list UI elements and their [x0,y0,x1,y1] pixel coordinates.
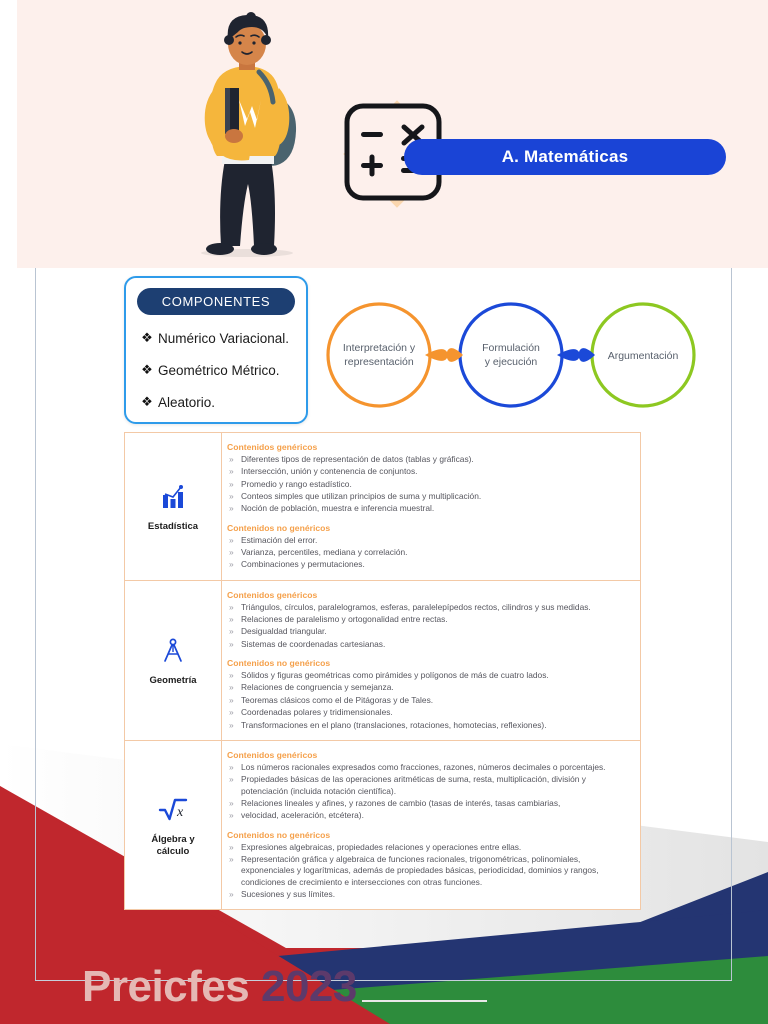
footer-title: Preicfes 2023 [82,962,357,1012]
section-title-generic: Contenidos genéricos [227,750,630,760]
list-item: ❖ Numérico Variacional. [136,322,301,354]
row-name: Estadística [148,521,198,533]
row-icon-cell: Estadística [125,433,222,580]
non-generic-list: Sólidos y figuras geométricas como pirám… [227,670,630,731]
table-row: x Álgebra y cálculo Contenidos genéricos… [125,741,640,909]
list-item: Desigualdad triangular. [227,626,630,637]
row-name: Álgebra y cálculo [151,834,194,858]
componentes-list: ❖ Numérico Variacional. ❖ Geométrico Mét… [136,322,301,418]
list-item: Sólidos y figuras geométricas como pirám… [227,670,630,681]
row-name: Geometría [150,675,197,687]
list-item: Sistemas de coordenadas cartesianas. [227,639,630,650]
list-item: Relaciones de congruencia y semejanza. [227,682,630,693]
list-item: Transformaciones en el plano (translacio… [227,720,630,731]
componente-label: Numérico Variacional. [158,331,289,346]
list-item: Conteos simples que utilizan principios … [227,491,630,502]
section-title-non-generic: Contenidos no genéricos [227,830,630,840]
list-item: Relaciones lineales y afines, y razones … [227,798,630,809]
diamond-bullet-icon: ❖ [136,362,158,378]
componentes-heading-pill: COMPONENTES [137,288,295,315]
non-generic-list: Estimación del error. Varianza, percenti… [227,535,630,571]
process-label-1-line1: Interpretación y [343,342,416,354]
list-item: Sucesiones y sus límites. [227,889,630,900]
list-item: ❖ Aleatorio. [136,386,301,418]
row-body: Contenidos genéricos Triángulos, círculo… [222,581,640,740]
list-item: Estimación del error. [227,535,630,546]
list-item: Propiedades básicas de las operaciones a… [227,774,630,797]
process-label-2-line1: Formulación [482,342,540,354]
frame-line-left [35,268,36,981]
diamond-bullet-icon: ❖ [136,394,158,410]
process-label-1-line2: representación [344,356,414,368]
square-root-icon: x [158,793,188,827]
footer-rule [362,1000,487,1002]
process-circle-2 [460,304,562,406]
row-icon-cell: x Álgebra y cálculo [125,741,222,909]
bar-chart-icon [160,480,186,514]
section-title-pill: A. Matemáticas [404,139,726,175]
row-body: Contenidos genéricos Los números raciona… [222,741,640,909]
non-generic-list: Expresiones algebraicas, propiedades rel… [227,842,630,901]
list-item: Promedio y rango estadístico. [227,479,630,490]
componentes-card: COMPONENTES ❖ Numérico Variacional. ❖ Ge… [124,276,308,424]
svg-text:x: x [176,805,184,820]
header-banner [17,0,768,268]
process-circle-1 [328,304,430,406]
list-item: ❖ Geométrico Métrico. [136,354,301,386]
list-item: Coordenadas polares y tridimensionales. [227,707,630,718]
list-item: Triángulos, círculos, paralelogramos, es… [227,602,630,613]
table-row: Estadística Contenidos genéricos Diferen… [125,433,640,581]
list-item: Noción de población, muestra e inferenci… [227,503,630,514]
diamond-bullet-icon: ❖ [136,330,158,346]
row-name-line1: Álgebra y [151,834,194,845]
process-label-2-line2: y ejecución [485,356,538,368]
section-title-non-generic: Contenidos no genéricos [227,658,630,668]
section-title-text: A. Matemáticas [502,147,629,167]
footer-title-part1: Preicfes [82,962,261,1011]
row-body: Contenidos genéricos Diferentes tipos de… [222,433,640,580]
section-title-non-generic: Contenidos no genéricos [227,523,630,533]
list-item: Teoremas clásicos como el de Pitágoras y… [227,695,630,706]
footer-title-part2: 2023 [261,962,357,1011]
process-label-3-line1: Argumentación [608,350,679,362]
list-item: Expresiones algebraicas, propiedades rel… [227,842,630,853]
list-item: Relaciones de paralelismo y ortogonalida… [227,614,630,625]
frame-line-right [731,268,732,981]
componentes-heading-text: COMPONENTES [162,294,270,309]
componente-label: Geométrico Métrico. [158,363,280,378]
list-item: Los números racionales expresados como f… [227,762,630,773]
section-title-generic: Contenidos genéricos [227,590,630,600]
generic-list: Diferentes tipos de representación de da… [227,454,630,515]
list-item: Representación gráfica y algebraica de f… [227,854,630,888]
list-item: velocidad, aceleración, etcétera). [227,810,630,821]
generic-list: Triángulos, círculos, paralelogramos, es… [227,602,630,650]
contents-table: Estadística Contenidos genéricos Diferen… [124,432,641,910]
compass-icon [160,634,186,668]
row-icon-cell: Geometría [125,581,222,740]
student-illustration [167,10,327,260]
process-diagram: Interpretación y representación Formulac… [325,296,703,414]
componente-label: Aleatorio. [158,395,215,410]
list-item: Diferentes tipos de representación de da… [227,454,630,465]
section-title-generic: Contenidos genéricos [227,442,630,452]
poster-page: A. Matemáticas COMPONENTES ❖ Numérico Va… [0,0,768,1024]
list-item: Intersección, unión y contenencia de con… [227,466,630,477]
row-name-line2: cálculo [157,846,190,857]
generic-list: Los números racionales expresados como f… [227,762,630,822]
list-item: Varianza, percentiles, mediana y correla… [227,547,630,558]
table-row: Geometría Contenidos genéricos Triángulo… [125,581,640,741]
list-item: Combinaciones y permutaciones. [227,559,630,570]
